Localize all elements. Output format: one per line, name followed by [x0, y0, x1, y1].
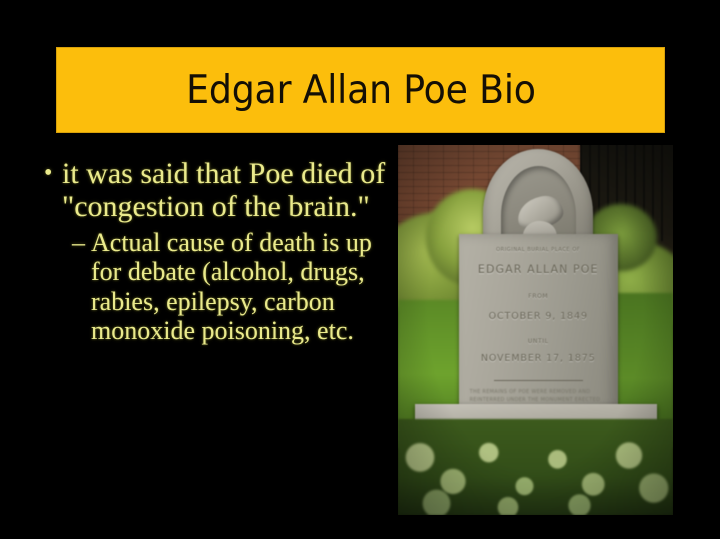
- title-banner: Edgar Allan Poe Bio: [56, 47, 665, 133]
- bullet-text-primary: it was said that Poe died of "congestion…: [62, 158, 390, 223]
- bullet-marker-dot: •: [40, 158, 62, 190]
- inscription-line-until-label: UNTIL: [459, 338, 619, 345]
- sub-bullet-group: – Actual cause of death is up for debate…: [40, 228, 390, 344]
- inscription-line-until-date: NOVEMBER 17, 1875: [459, 353, 619, 365]
- photo-scene: ORIGINAL BURIAL PLACE OF EDGAR ALLAN POE…: [398, 145, 673, 515]
- bullet-item-secondary: – Actual cause of death is up for debate…: [72, 228, 390, 344]
- inscription-line-from-date: OCTOBER 9, 1849: [459, 310, 619, 322]
- gravestone-face: ORIGINAL BURIAL PLACE OF EDGAR ALLAN POE…: [459, 234, 619, 426]
- slide: Edgar Allan Poe Bio • it was said that P…: [0, 0, 720, 539]
- bullet-text-secondary: Actual cause of death is up for debate (…: [91, 228, 390, 344]
- body-text-column: • it was said that Poe died of "congesti…: [40, 158, 390, 345]
- page-title: Edgar Allan Poe Bio: [186, 71, 536, 110]
- inscription-line-name: EDGAR ALLAN POE: [459, 262, 619, 276]
- bullet-item-primary: • it was said that Poe died of "congesti…: [40, 158, 390, 223]
- inscription-line-from-label: FROM: [459, 293, 619, 300]
- ground-cover-ivy: [398, 419, 673, 515]
- inscription-line-top: ORIGINAL BURIAL PLACE OF: [459, 247, 619, 253]
- bullet-marker-dash: –: [72, 228, 91, 257]
- inscription-divider-rule: [494, 380, 583, 381]
- poe-gravestone-photo: ORIGINAL BURIAL PLACE OF EDGAR ALLAN POE…: [398, 145, 673, 515]
